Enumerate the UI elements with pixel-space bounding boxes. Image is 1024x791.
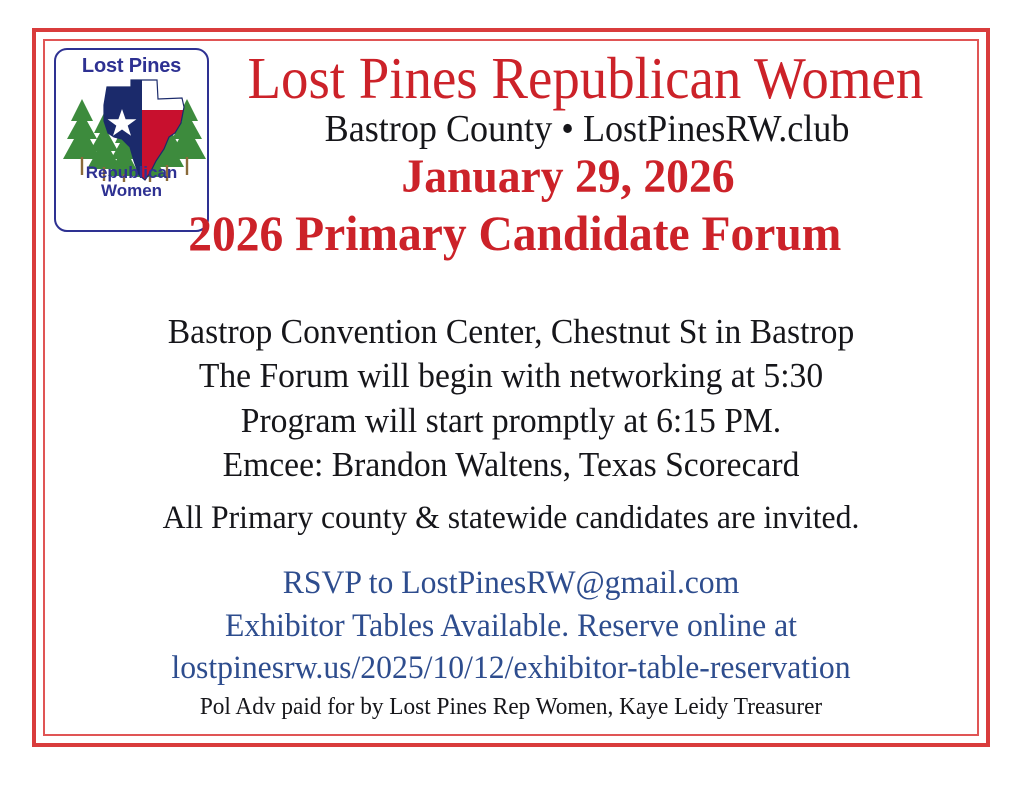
detail-line-networking: The Forum will begin with networking at … [55,354,967,398]
reservation-url-link[interactable]: lostpinesrw.us/2025/10/12/exhibitor-tabl… [55,647,967,690]
organization-title: Lost Pines Republican Women [69,50,953,108]
event-details: Bastrop Convention Center, Chestnut St i… [55,310,967,488]
detail-line-program: Program will start promptly at 6:15 PM. [55,399,967,443]
event-date: January 29, 2026 [60,150,963,204]
political-disclaimer: Pol Adv paid for by Lost Pines Rep Women… [50,694,972,721]
flyer-content: Lost Pines [36,32,986,743]
organization-subtitle: Bastrop County • LostPinesRW.club [60,108,963,151]
event-flyer: Lost Pines [0,0,1024,791]
flyer-border-frame: Lost Pines [32,28,990,747]
rsvp-email-line[interactable]: RSVP to LostPinesRW@gmail.com [55,562,967,605]
flyer-header: Lost Pines Republican Women Bastrop Coun… [36,50,986,263]
invitation-text: All Primary county & statewide candidate… [55,500,967,537]
rsvp-block: RSVP to LostPinesRW@gmail.com Exhibitor … [55,562,967,690]
exhibitor-tables-line: Exhibitor Tables Available. Reserve onli… [55,605,967,648]
event-title: 2026 Primary Candidate Forum [60,204,963,263]
detail-line-emcee: Emcee: Brandon Waltens, Texas Scorecard [55,443,967,487]
detail-line-venue: Bastrop Convention Center, Chestnut St i… [55,310,967,354]
